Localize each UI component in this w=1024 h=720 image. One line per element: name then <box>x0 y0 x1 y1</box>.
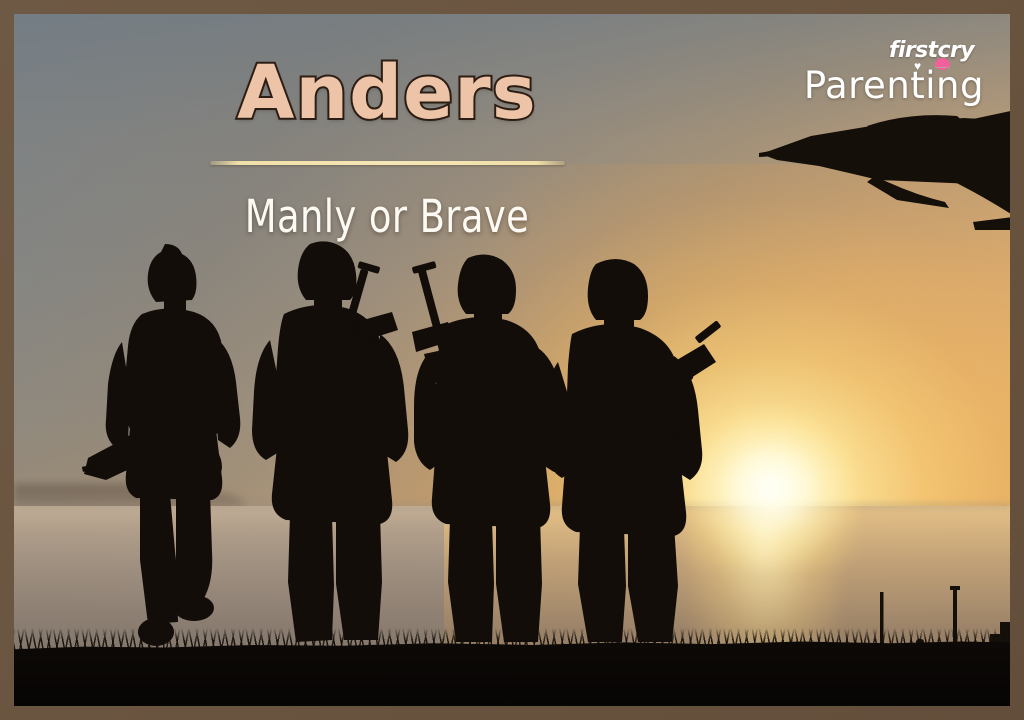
soldier-1-icon <box>82 242 252 650</box>
logo-parenting-wordmark: Parenting <box>804 64 984 107</box>
name-card-screenshot: Anders Manly or Brave firstcry ♥ Parenti… <box>0 0 1024 720</box>
photo-canvas: Anders Manly or Brave firstcry ♥ Parenti… <box>14 14 1010 706</box>
page-title: Anders <box>14 56 760 130</box>
logo-firstcry-wordmark: firstcry <box>889 38 974 63</box>
soldier-4-icon <box>544 254 734 650</box>
fighter-jet-silhouette <box>759 110 1010 250</box>
fighter-jet-icon <box>759 110 1010 250</box>
soldier-2-icon <box>240 238 420 650</box>
soldier-silhouette-4 <box>544 254 734 650</box>
firstcry-parenting-logo[interactable]: firstcry ♥ Parenting <box>824 38 984 110</box>
soldier-silhouette-1 <box>82 242 252 650</box>
title-divider <box>210 161 565 165</box>
name-meaning-subtitle: Manly or Brave <box>81 193 693 240</box>
soldier-silhouette-2 <box>240 238 420 650</box>
